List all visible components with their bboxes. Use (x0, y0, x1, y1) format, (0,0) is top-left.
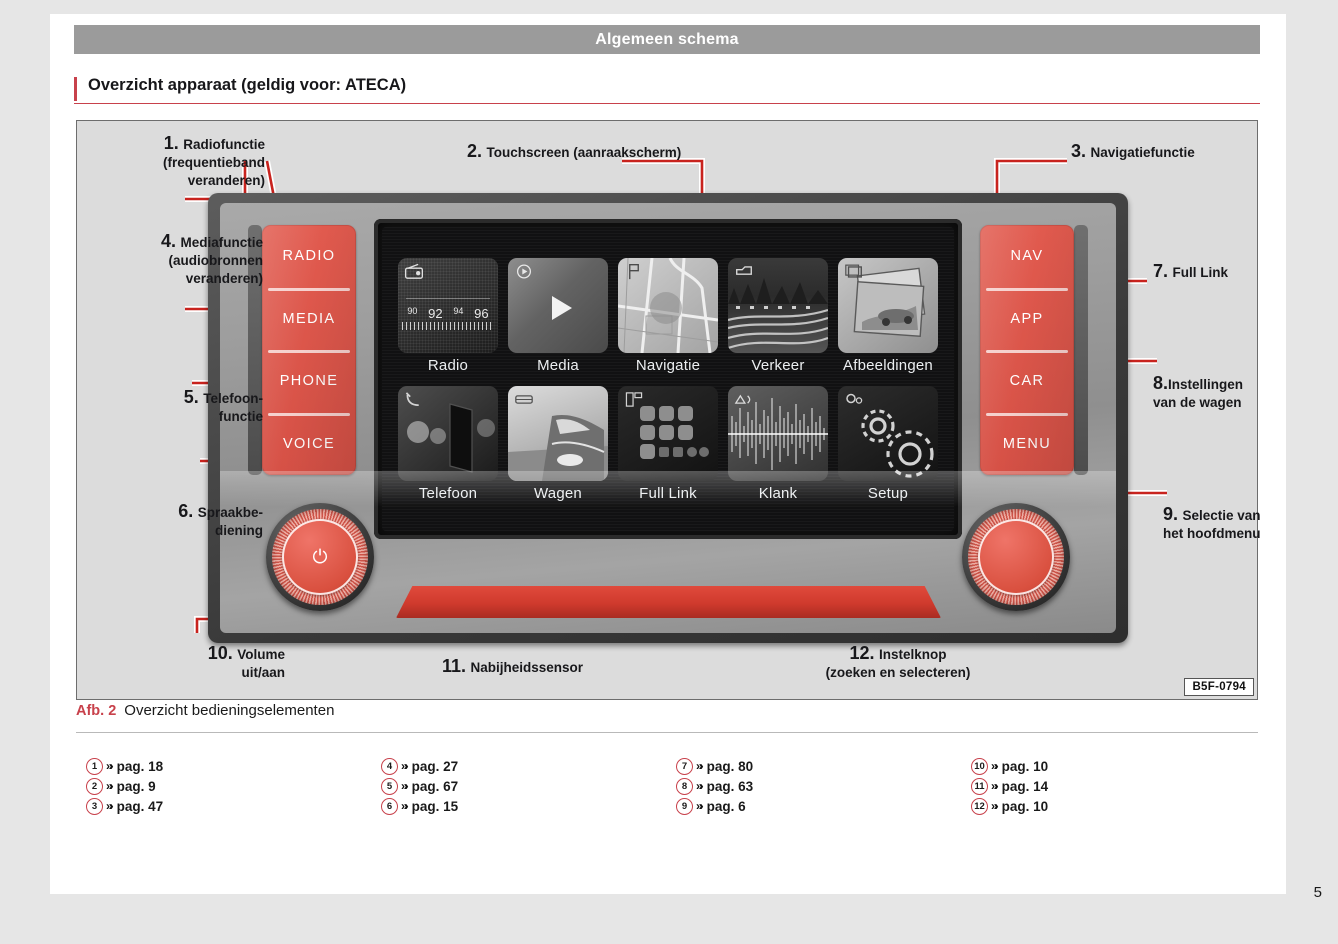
reference-number: 7 (676, 758, 693, 775)
app-button-label: APP (1010, 311, 1043, 327)
phone-button[interactable]: PHONE (262, 350, 356, 413)
car-icon (514, 391, 534, 408)
reference-page: pag. 27 (412, 759, 459, 774)
reference-item[interactable]: 6»›pag. 15 (381, 796, 676, 816)
reference-page: pag. 15 (412, 799, 459, 814)
callout-5-line1: Telefoon- (203, 391, 263, 406)
callout-9-number: 9. (1163, 504, 1178, 524)
callout-12: 12. Instelknop (zoeken en selecteren) (799, 643, 997, 682)
reference-item[interactable]: 10»›pag. 10 (971, 756, 1266, 776)
app-setup-label: Setup (838, 485, 938, 502)
app-full-link-tile[interactable] (618, 386, 718, 481)
reference-number: 8 (676, 778, 693, 795)
callout-6: 6. Spraakbe- diening (91, 501, 263, 540)
app-row-1: 90 92 94 96 Radio (382, 258, 954, 374)
cross-reference-list: 1»›pag. 18 2»›pag. 9 3»›pag. 47 4»›pag. … (86, 756, 1266, 816)
app-wagen[interactable]: Wagen (508, 386, 608, 502)
chevron-icon: »› (696, 799, 701, 813)
callout-8-line2: van de wagen (1153, 395, 1242, 410)
gear-icon (844, 391, 864, 408)
callout-1-line1: Radiofunctie (183, 137, 265, 152)
figure-illustration: RADIO MEDIA PHONE VOICE NAV APP CAR MENU (76, 120, 1258, 700)
reference-item[interactable]: 11»›pag. 14 (971, 776, 1266, 796)
callout-7-line1: Full Link (1172, 265, 1228, 280)
app-button[interactable]: APP (980, 288, 1074, 351)
app-afbeeldingen[interactable]: Afbeeldingen (838, 258, 938, 374)
touchscreen-home-menu[interactable]: 90 92 94 96 Radio (382, 227, 954, 531)
callout-1-number: 1. (164, 133, 179, 153)
callout-7-number: 7. (1153, 261, 1168, 281)
app-verkeer-tile[interactable] (728, 258, 828, 353)
chevron-icon: »› (401, 779, 406, 793)
car-button-label: CAR (1010, 373, 1045, 389)
voice-button-label: VOICE (283, 436, 335, 452)
reference-page: pag. 80 (707, 759, 754, 774)
reference-number: 9 (676, 798, 693, 815)
reference-page: pag. 18 (117, 759, 164, 774)
radio-freq-96: 96 (474, 306, 488, 321)
callout-5-line2: functie (219, 409, 263, 424)
app-verkeer[interactable]: Verkeer (728, 258, 828, 374)
chevron-icon: »› (696, 779, 701, 793)
radio-button[interactable]: RADIO (262, 225, 356, 288)
callout-7: 7. Full Link (1153, 261, 1228, 282)
phone-button-label: PHONE (280, 373, 339, 389)
app-radio-tile[interactable]: 90 92 94 96 (398, 258, 498, 353)
media-button-label: MEDIA (283, 311, 336, 327)
reference-number: 4 (381, 758, 398, 775)
reference-page: pag. 14 (1002, 779, 1049, 794)
reference-page: pag. 10 (1002, 759, 1049, 774)
callout-4-line1: Mediafunctie (180, 235, 263, 250)
app-afbeeldingen-tile[interactable] (838, 258, 938, 353)
figure-caption-text: Overzicht bedieningselementen (124, 702, 334, 719)
callout-11-line1: Nabijheidssensor (470, 660, 583, 675)
chevron-icon: »› (991, 759, 996, 773)
phone-icon (404, 391, 424, 408)
reference-number: 3 (86, 798, 103, 815)
reference-page: pag. 6 (707, 799, 746, 814)
callout-10-line1: Volume (237, 647, 285, 662)
reference-number: 1 (86, 758, 103, 775)
callout-2-number: 2. (467, 141, 482, 161)
app-setup-tile[interactable] (838, 386, 938, 481)
app-media-tile[interactable] (508, 258, 608, 353)
callout-9-line2: het hoofdmenu (1163, 526, 1261, 541)
app-wagen-label: Wagen (508, 485, 608, 502)
callout-5: 5. Telefoon- functie (87, 387, 263, 426)
callout-10-line2: uit/aan (241, 665, 285, 680)
play-circle-icon (514, 263, 534, 280)
menu-button-label: MENU (1003, 436, 1051, 452)
callout-4: 4. Mediafunctie (audiobronnen veranderen… (83, 231, 263, 288)
callout-3-number: 3. (1071, 141, 1086, 161)
tuning-select-knob[interactable] (962, 503, 1070, 611)
app-wagen-tile[interactable] (508, 386, 608, 481)
running-header-bar: Algemeen schema (74, 25, 1260, 54)
reference-number: 10 (971, 758, 988, 775)
reference-item[interactable]: 9»›pag. 6 (676, 796, 971, 816)
callout-6-line2: diening (215, 523, 263, 538)
chevron-icon: »› (991, 799, 996, 813)
grid-icon (624, 391, 644, 408)
reference-page: pag. 9 (117, 779, 156, 794)
reference-column-2: 4»›pag. 27 5»›pag. 67 6»›pag. 15 (381, 756, 676, 816)
callout-12-line1: Instelknop (879, 647, 947, 662)
callout-12-number: 12. (850, 643, 875, 663)
app-full-link-label: Full Link (618, 485, 718, 502)
chevron-icon: »› (401, 759, 406, 773)
callout-4-line3: veranderen) (186, 271, 263, 286)
reference-page: pag. 67 (412, 779, 459, 794)
callout-1-line3: veranderen) (188, 173, 265, 188)
callout-8: 8.Instellingen van de wagen (1153, 373, 1273, 412)
flag-icon (624, 263, 644, 280)
app-telefoon[interactable]: Telefoon (398, 386, 498, 502)
figure-caption: Afb. 2Overzicht bedieningselementen (76, 702, 1258, 733)
volume-power-knob[interactable]: ⏻ (266, 503, 374, 611)
touchscreen[interactable]: 90 92 94 96 Radio (374, 219, 962, 539)
radio-freq-92: 92 (428, 306, 442, 321)
radio-freq-90: 90 (407, 306, 417, 321)
callout-6-line1: Spraakbe- (198, 505, 263, 520)
reference-item[interactable]: 12»›pag. 10 (971, 796, 1266, 816)
reference-item[interactable]: 1»›pag. 18 (86, 756, 381, 776)
page-number: 5 (1314, 884, 1322, 901)
callout-11-number: 11. (442, 656, 466, 676)
callout-8-number: 8. (1153, 373, 1168, 393)
traffic-icon (734, 263, 754, 280)
nav-button-label: NAV (1011, 248, 1044, 264)
callout-2-line1: Touchscreen (aanraakscherm) (486, 145, 681, 160)
figure-caption-number: Afb. 2 (76, 703, 116, 719)
reference-number: 5 (381, 778, 398, 795)
reference-item[interactable]: 3»›pag. 47 (86, 796, 381, 816)
left-hardkey-column[interactable]: RADIO MEDIA PHONE VOICE (262, 225, 356, 475)
callout-8-line1: Instellingen (1168, 377, 1243, 392)
proximity-sensor-strip (396, 586, 941, 618)
infotainment-device: RADIO MEDIA PHONE VOICE NAV APP CAR MENU (208, 193, 1128, 643)
reference-page: pag. 10 (1002, 799, 1049, 814)
callout-3: 3. Navigatiefunctie (1071, 141, 1195, 162)
chevron-icon: »› (106, 779, 111, 793)
reference-number: 12 (971, 798, 988, 815)
callout-3-line1: Navigatiefunctie (1090, 145, 1194, 160)
app-radio[interactable]: 90 92 94 96 Radio (398, 258, 498, 374)
right-hardkey-column[interactable]: NAV APP CAR MENU (980, 225, 1074, 475)
reference-page: pag. 63 (707, 779, 754, 794)
chevron-icon: »› (991, 779, 996, 793)
reference-number: 2 (86, 778, 103, 795)
tuning-knob-cap[interactable] (978, 519, 1054, 595)
callout-4-number: 4. (161, 231, 176, 251)
app-verkeer-label: Verkeer (728, 357, 828, 374)
reference-column-4: 10»›pag. 10 11»›pag. 14 12»›pag. 10 (971, 756, 1266, 816)
figure-code-tag: B5F-0794 (1184, 678, 1254, 696)
car-button[interactable]: CAR (980, 350, 1074, 413)
voice-button[interactable]: VOICE (262, 413, 356, 476)
callout-2: 2. Touchscreen (aanraakscherm) (467, 141, 681, 162)
app-klank-tile[interactable] (728, 386, 828, 481)
app-klank[interactable]: Klank (728, 386, 828, 502)
chevron-icon: »› (106, 799, 111, 813)
section-heading: Overzicht apparaat (geldig voor: ATECA) (74, 76, 1260, 104)
running-header-title: Algemeen schema (74, 25, 1260, 54)
callout-12-line2: (zoeken en selecteren) (826, 665, 971, 680)
callout-9-line1: Selectie van (1182, 508, 1260, 523)
callout-1-line2: (frequentieband (163, 155, 265, 170)
reference-column-3: 7»›pag. 80 8»›pag. 63 9»›pag. 6 (676, 756, 971, 816)
right-key-column-edge (1074, 225, 1088, 475)
device-faceplate: RADIO MEDIA PHONE VOICE NAV APP CAR MENU (220, 203, 1116, 633)
radio-icon (404, 263, 424, 280)
reference-item[interactable]: 5»›pag. 67 (381, 776, 676, 796)
callout-10-number: 10. (208, 643, 233, 663)
callout-11: 11. Nabijheidssensor (442, 656, 583, 677)
menu-button[interactable]: MENU (980, 413, 1074, 476)
reference-item[interactable]: 7»›pag. 80 (676, 756, 971, 776)
section-underline (74, 103, 1260, 104)
volume-knob-cap[interactable]: ⏻ (282, 519, 358, 595)
app-media[interactable]: Media (508, 258, 608, 374)
reference-number: 6 (381, 798, 398, 815)
chevron-icon: »› (696, 759, 701, 773)
callout-1: 1. Radiofunctie (frequentieband verander… (105, 133, 265, 190)
radio-button-label: RADIO (283, 248, 336, 264)
reference-number: 11 (971, 778, 988, 795)
media-button[interactable]: MEDIA (262, 288, 356, 351)
app-row-2: Telefoon (382, 386, 954, 502)
power-icon: ⏻ (312, 548, 327, 567)
callout-5-number: 5. (184, 387, 199, 407)
pictures-icon (844, 263, 864, 280)
radio-freq-94: 94 (453, 306, 463, 321)
nav-button[interactable]: NAV (980, 225, 1074, 288)
callout-4-line2: (audiobronnen (169, 253, 264, 268)
app-klank-label: Klank (728, 485, 828, 502)
app-full-link[interactable]: Full Link (618, 386, 718, 502)
chevron-icon: »› (401, 799, 406, 813)
callout-6-number: 6. (178, 501, 193, 521)
app-radio-label: Radio (398, 357, 498, 374)
section-heading-text: Overzicht apparaat (geldig voor: ATECA) (88, 76, 406, 95)
app-telefoon-tile[interactable] (398, 386, 498, 481)
app-navigatie[interactable]: Navigatie (618, 258, 718, 374)
sound-icon (734, 391, 754, 408)
app-navigatie-tile[interactable] (618, 258, 718, 353)
reference-column-1: 1»›pag. 18 2»›pag. 9 3»›pag. 47 (86, 756, 381, 816)
app-grid-art (640, 406, 712, 472)
chevron-icon: »› (106, 759, 111, 773)
app-setup[interactable]: Setup (838, 386, 938, 502)
callout-9: 9. Selectie van het hoofdmenu (1163, 504, 1293, 543)
app-telefoon-label: Telefoon (398, 485, 498, 502)
app-afbeeldingen-label: Afbeeldingen (838, 357, 938, 374)
reference-item[interactable]: 2»›pag. 9 (86, 776, 381, 796)
play-triangle-icon (540, 288, 580, 328)
callout-10: 10. Volume uit/aan (177, 643, 285, 682)
reference-item[interactable]: 4»›pag. 27 (381, 756, 676, 776)
section-accent-rule (74, 77, 77, 101)
reference-page: pag. 47 (117, 799, 164, 814)
reference-item[interactable]: 8»›pag. 63 (676, 776, 971, 796)
app-media-label: Media (508, 357, 608, 374)
app-navigatie-label: Navigatie (618, 357, 718, 374)
